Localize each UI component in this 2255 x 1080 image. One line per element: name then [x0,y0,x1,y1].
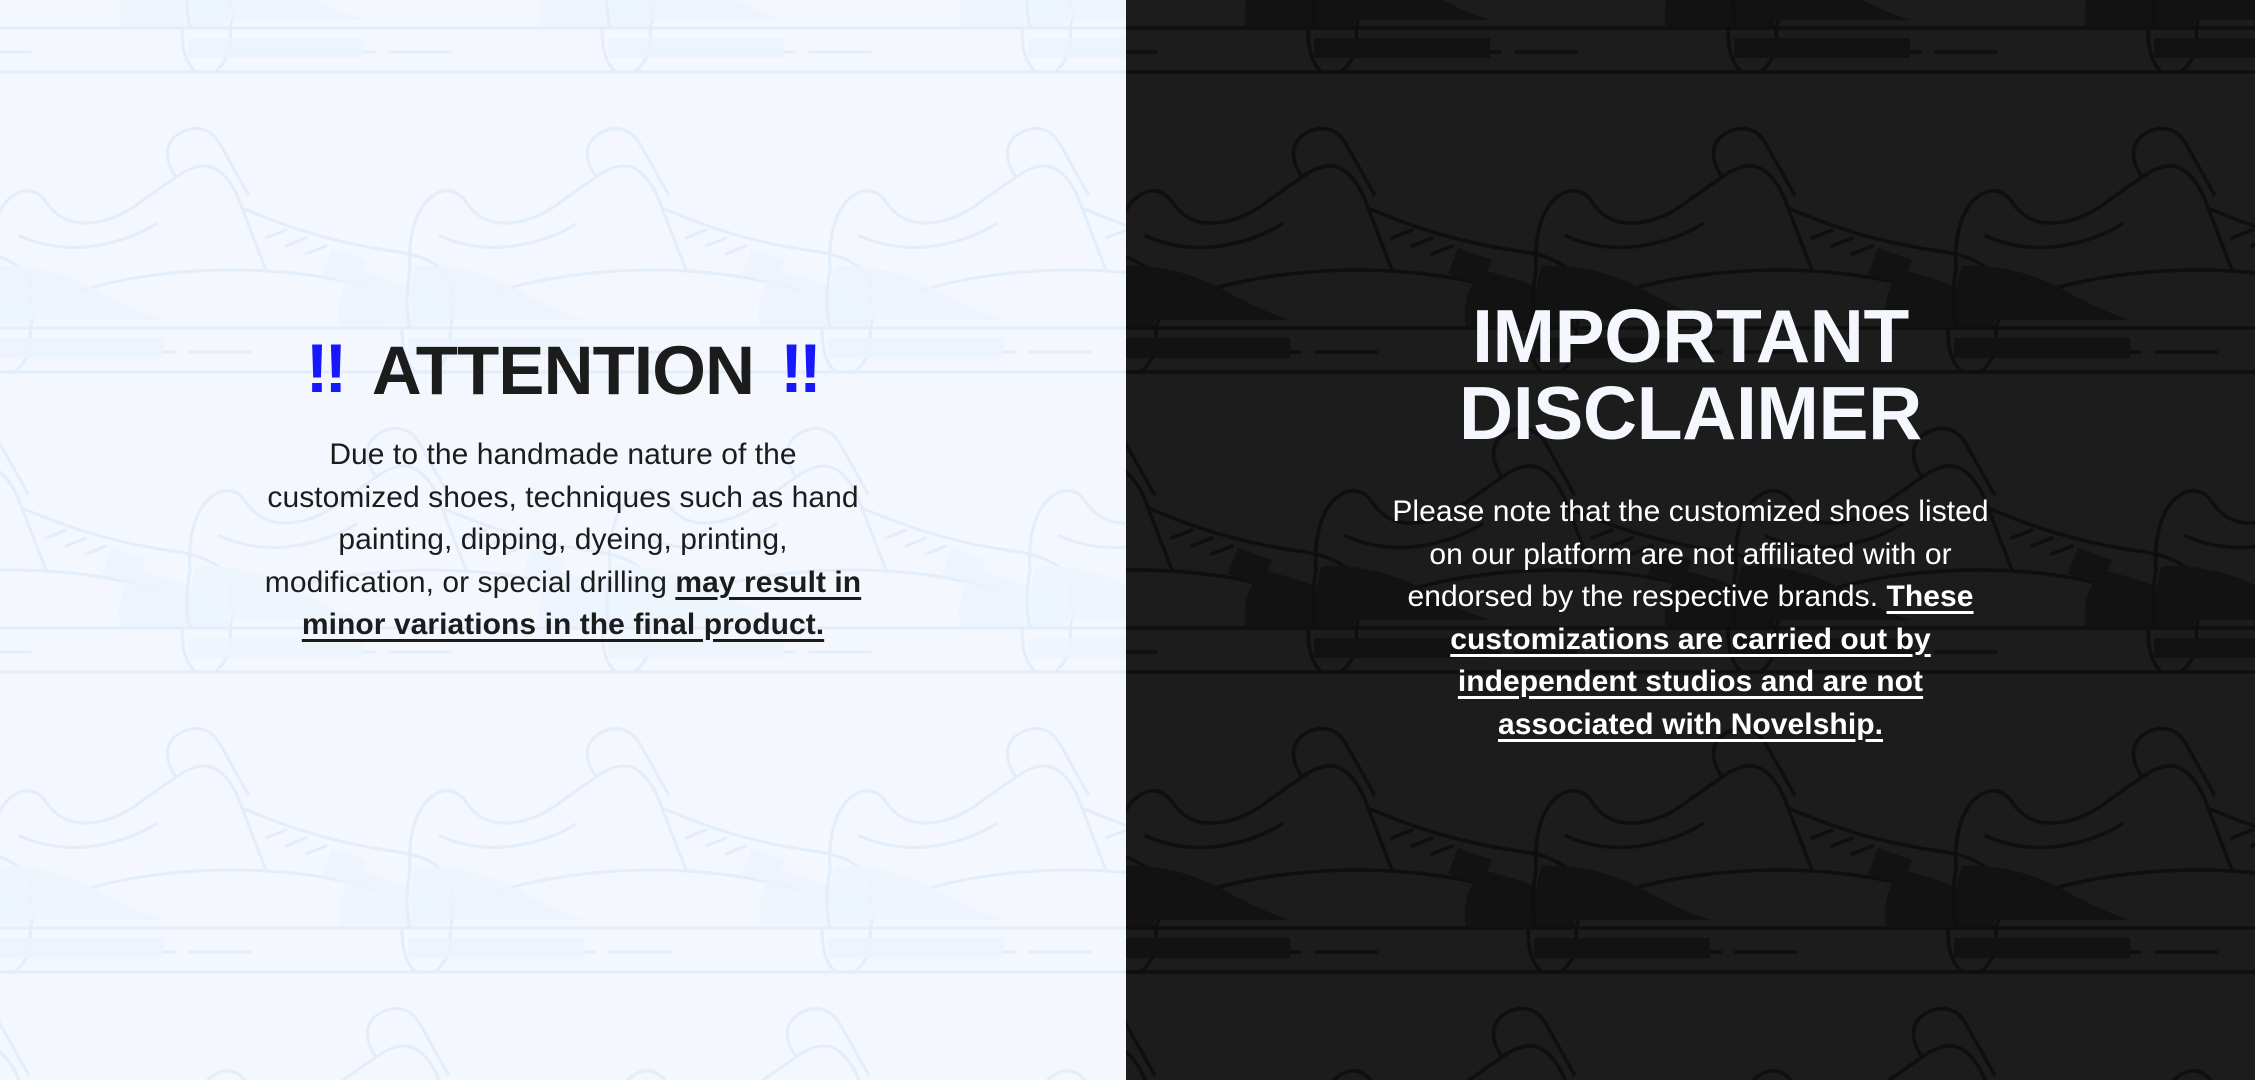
disclaimer-heading-line-1: IMPORTANT [1472,294,1909,378]
disclaimer-banner: ‼ ATTENTION ‼ Due to the handmade nature… [0,0,2255,1080]
attention-heading-text: ATTENTION [372,336,754,405]
disclaimer-content: IMPORTANT DISCLAIMER Please note that th… [1126,0,2255,747]
double-exclamation-icon-right: ‼ [780,334,820,403]
disclaimer-heading-line-2: DISCLAIMER [1459,371,1922,455]
double-exclamation-icon-left: ‼ [306,334,346,403]
disclaimer-heading: IMPORTANT DISCLAIMER [1459,298,1922,451]
attention-panel: ‼ ATTENTION ‼ Due to the handmade nature… [0,0,1126,1080]
disclaimer-body: Please note that the customized shoes li… [1381,491,2001,747]
attention-heading: ‼ ATTENTION ‼ [306,336,821,405]
attention-content: ‼ ATTENTION ‼ Due to the handmade nature… [0,0,1126,647]
disclaimer-panel: IMPORTANT DISCLAIMER Please note that th… [1126,0,2255,1080]
attention-body: Due to the handmade nature of the custom… [253,434,873,647]
